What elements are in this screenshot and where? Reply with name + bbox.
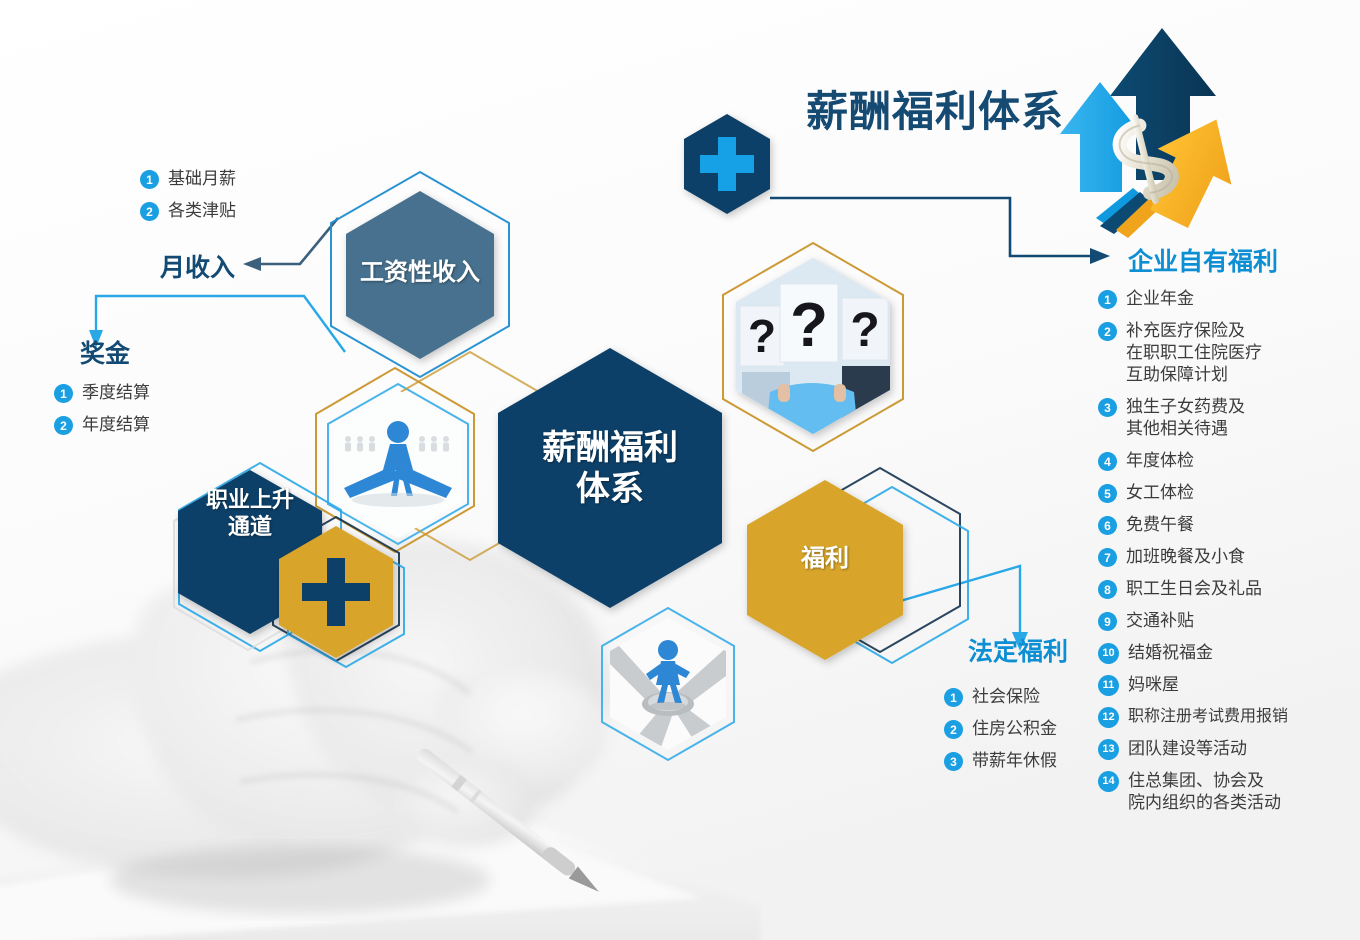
item-number: 2 bbox=[944, 720, 963, 739]
item-label: 社会保险 bbox=[972, 686, 1040, 708]
infographic-canvas: ? ? ? bbox=[0, 0, 1360, 940]
list-item: 2 年度结算 bbox=[54, 414, 150, 436]
item-number: 1 bbox=[54, 384, 73, 403]
monthly-income-heading: 月收入 bbox=[160, 248, 235, 284]
item-label: 基础月薪 bbox=[168, 168, 236, 190]
page-title: 薪酬福利体系 bbox=[806, 78, 1064, 139]
item-number: 14 bbox=[1098, 771, 1119, 792]
item-number: 12 bbox=[1098, 707, 1119, 728]
list-item: 11 妈咪屋 bbox=[1098, 674, 1288, 696]
item-number: 11 bbox=[1098, 675, 1119, 696]
item-label: 住房公积金 bbox=[972, 718, 1057, 740]
list-item: 10 结婚祝福金 bbox=[1098, 642, 1288, 664]
bonus-heading: 奖金 bbox=[80, 334, 130, 370]
item-label: 团队建设等活动 bbox=[1128, 738, 1247, 760]
item-label: 独生子女药费及 其他相关待遇 bbox=[1126, 396, 1245, 440]
list-item: 2 住房公积金 bbox=[944, 718, 1057, 740]
statutory-benefits-heading: 法定福利 bbox=[968, 632, 1068, 668]
item-number: 10 bbox=[1098, 643, 1119, 664]
item-label: 年度结算 bbox=[82, 414, 150, 436]
statutory-benefits-items: 1 社会保险 2 住房公积金 3 带薪年休假 bbox=[944, 686, 1057, 782]
item-number: 2 bbox=[140, 202, 159, 221]
list-item: 6 免费午餐 bbox=[1098, 514, 1288, 536]
item-label: 季度结算 bbox=[82, 382, 150, 404]
item-label: 结婚祝福金 bbox=[1128, 642, 1213, 664]
list-item: 9 交通补贴 bbox=[1098, 610, 1288, 632]
list-item: 2 补充医疗保险及 在职职工住院医疗 互助保障计划 bbox=[1098, 320, 1288, 386]
item-label: 交通补贴 bbox=[1126, 610, 1194, 632]
item-label: 住总集团、协会及 院内组织的各类活动 bbox=[1128, 770, 1281, 814]
list-item: 2 各类津贴 bbox=[140, 200, 236, 222]
list-item: 3 带薪年休假 bbox=[944, 750, 1057, 772]
list-item: 3 独生子女药费及 其他相关待遇 bbox=[1098, 396, 1288, 440]
item-number: 9 bbox=[1098, 612, 1117, 631]
list-item: 1 社会保险 bbox=[944, 686, 1057, 708]
item-number: 13 bbox=[1098, 739, 1119, 760]
item-number: 2 bbox=[1098, 322, 1117, 341]
list-item: 12 职称注册考试费用报销 bbox=[1098, 706, 1288, 728]
item-label: 妈咪屋 bbox=[1128, 674, 1179, 696]
list-item: 1 季度结算 bbox=[54, 382, 150, 404]
list-item: 7 加班晚餐及小食 bbox=[1098, 546, 1288, 568]
list-item: 8 职工生日会及礼品 bbox=[1098, 578, 1288, 600]
item-label: 企业年金 bbox=[1126, 288, 1194, 310]
item-label: 免费午餐 bbox=[1126, 514, 1194, 536]
monthly-income-items: 1 基础月薪 2 各类津贴 bbox=[140, 168, 236, 232]
list-item: 13 团队建设等活动 bbox=[1098, 738, 1288, 760]
item-number: 1 bbox=[140, 170, 159, 189]
item-number: 8 bbox=[1098, 580, 1117, 599]
list-item: 5 女工体检 bbox=[1098, 482, 1288, 504]
item-number: 4 bbox=[1098, 452, 1117, 471]
item-label: 职工生日会及礼品 bbox=[1126, 578, 1262, 600]
item-number: 3 bbox=[944, 752, 963, 771]
list-item: 1 企业年金 bbox=[1098, 288, 1288, 310]
bonus-items: 1 季度结算 2 年度结算 bbox=[54, 382, 150, 446]
list-item: 14 住总集团、协会及 院内组织的各类活动 bbox=[1098, 770, 1288, 814]
item-number: 7 bbox=[1098, 548, 1117, 567]
company-benefits-items: 1 企业年金 2 补充医疗保险及 在职职工住院医疗 互助保障计划 3 独生子女药… bbox=[1098, 288, 1288, 824]
item-label: 各类津贴 bbox=[168, 200, 236, 222]
item-label: 职称注册考试费用报销 bbox=[1128, 706, 1288, 728]
item-number: 5 bbox=[1098, 484, 1117, 503]
item-label: 女工体检 bbox=[1126, 482, 1194, 504]
item-label: 加班晚餐及小食 bbox=[1126, 546, 1245, 568]
item-number: 3 bbox=[1098, 398, 1117, 417]
item-label: 年度体检 bbox=[1126, 450, 1194, 472]
list-item: 1 基础月薪 bbox=[140, 168, 236, 190]
item-label: 补充医疗保险及 在职职工住院医疗 互助保障计划 bbox=[1126, 320, 1262, 386]
company-benefits-heading: 企业自有福利 bbox=[1128, 242, 1278, 278]
item-number: 2 bbox=[54, 416, 73, 435]
item-number: 6 bbox=[1098, 516, 1117, 535]
item-number: 1 bbox=[1098, 290, 1117, 309]
item-number: 1 bbox=[944, 688, 963, 707]
item-label: 带薪年休假 bbox=[972, 750, 1057, 772]
list-item: 4 年度体检 bbox=[1098, 450, 1288, 472]
